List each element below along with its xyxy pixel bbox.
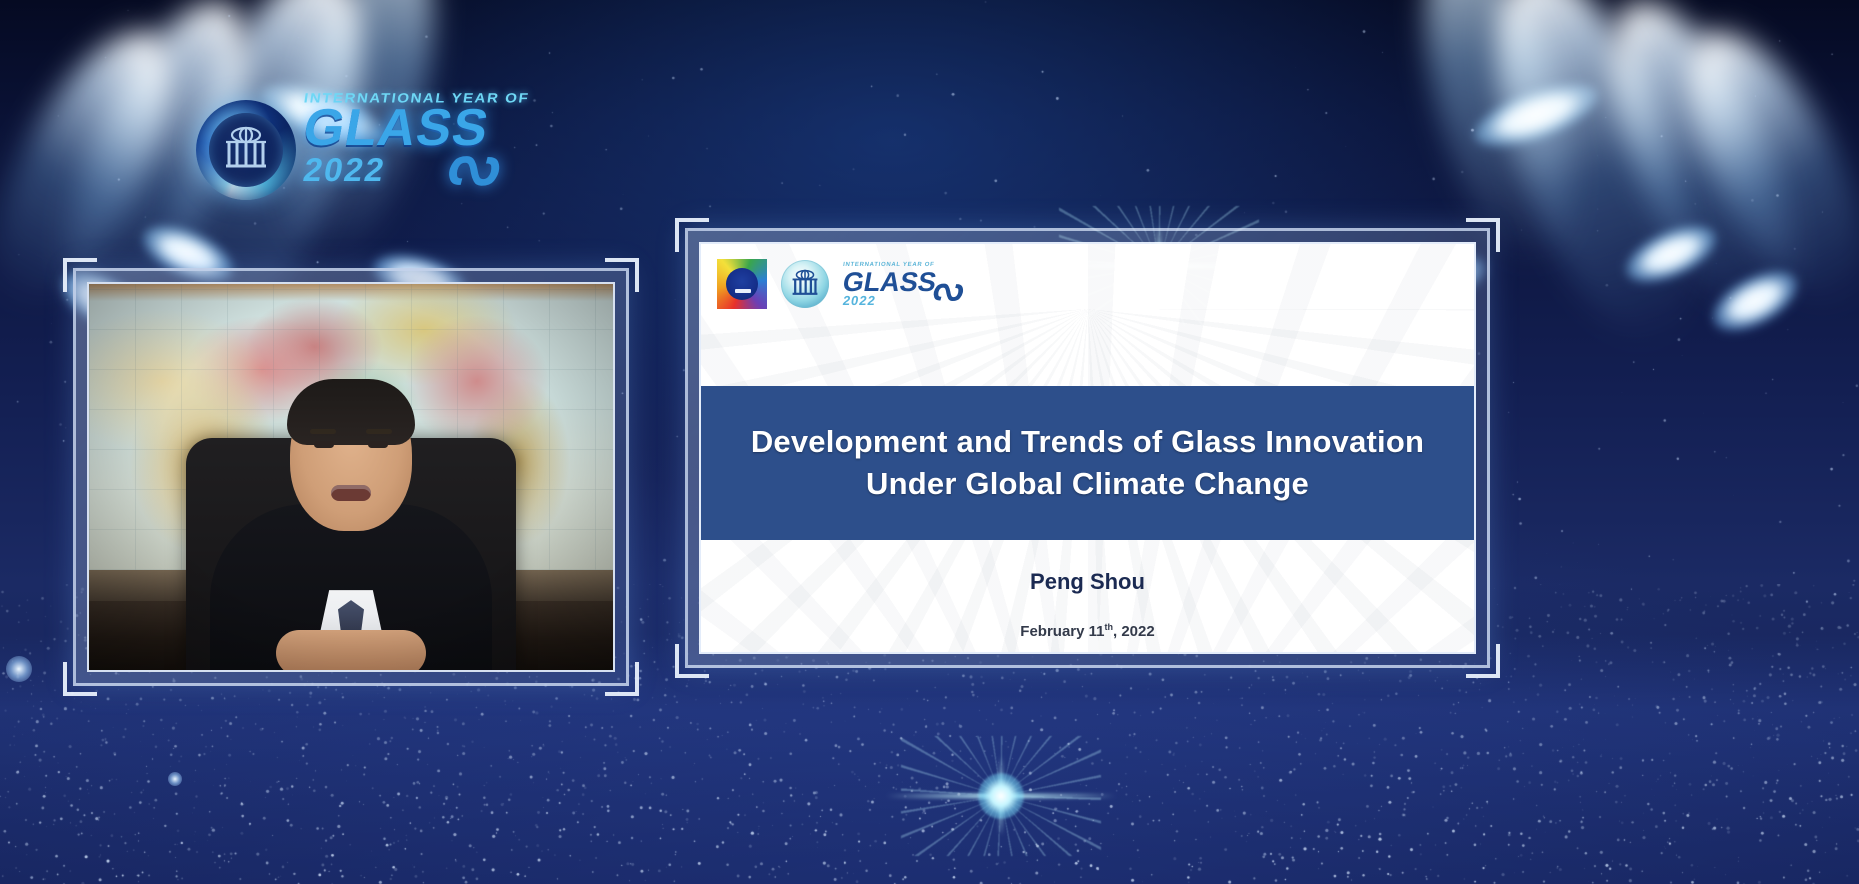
speaker-eye-left [314,441,334,448]
spotlight-lamp-right-2 [1618,214,1724,293]
speaker-eye-right [368,441,388,448]
speaker-video-panel[interactable] [73,268,629,686]
speaker-hands [276,630,426,672]
slide-author-name: Peng Shou [701,569,1474,595]
iyog-rainbow-logo-icon [717,259,767,309]
video-feed [89,284,613,670]
spotlight-lamp-right-3 [1467,71,1605,159]
spotlight-lamp-right-1 [1704,259,1807,343]
slide-logo-row: INTERNATIONAL YEAR OF GLASS 2022 ᔓ [717,258,936,310]
slide-logo-main-text: GLASS [841,269,939,296]
slide-date: February 11th, 2022 [701,622,1474,640]
slide-title-line-1: Development and Trends of Glass Innovati… [751,424,1424,460]
presentation-slide-panel[interactable]: INTERNATIONAL YEAR OF GLASS 2022 ᔓ Devel… [685,228,1490,668]
unesco-temple-logo-icon [781,260,829,308]
speaker-brow-right [366,429,392,434]
unesco-orb-icon [196,100,296,200]
speaker-mouth [331,485,371,501]
video-frame-inner [87,282,615,672]
slide-title-bar: Development and Trends of Glass Innovati… [701,386,1474,540]
slide-title-line-2: Under Global Climate Change [866,466,1309,502]
spotlight-beam-right-3 [1457,0,1731,364]
speaker-head [290,379,412,531]
slide-date-year: , 2022 [1113,623,1155,640]
slide-frame-inner: INTERNATIONAL YEAR OF GLASS 2022 ᔓ Devel… [699,242,1476,654]
slide-logo-year-text: 2022 [842,294,937,307]
speaker-brow-left [310,429,336,434]
slide-date-suffix: th [1105,622,1114,632]
speaker-figure [206,373,496,670]
slide-content: INTERNATIONAL YEAR OF GLASS 2022 ᔓ Devel… [701,244,1474,652]
international-year-of-glass-logo: INTERNATIONAL YEAR OF GLASS 2022 ᔓ [196,86,496,214]
stage-background: INTERNATIONAL YEAR OF GLASS 2022 ᔓ [0,0,1859,884]
slide-date-prefix: February 11 [1020,623,1104,640]
speaker-hair [287,379,415,445]
slide-glass-wordmark: INTERNATIONAL YEAR OF GLASS 2022 ᔓ [843,262,936,307]
